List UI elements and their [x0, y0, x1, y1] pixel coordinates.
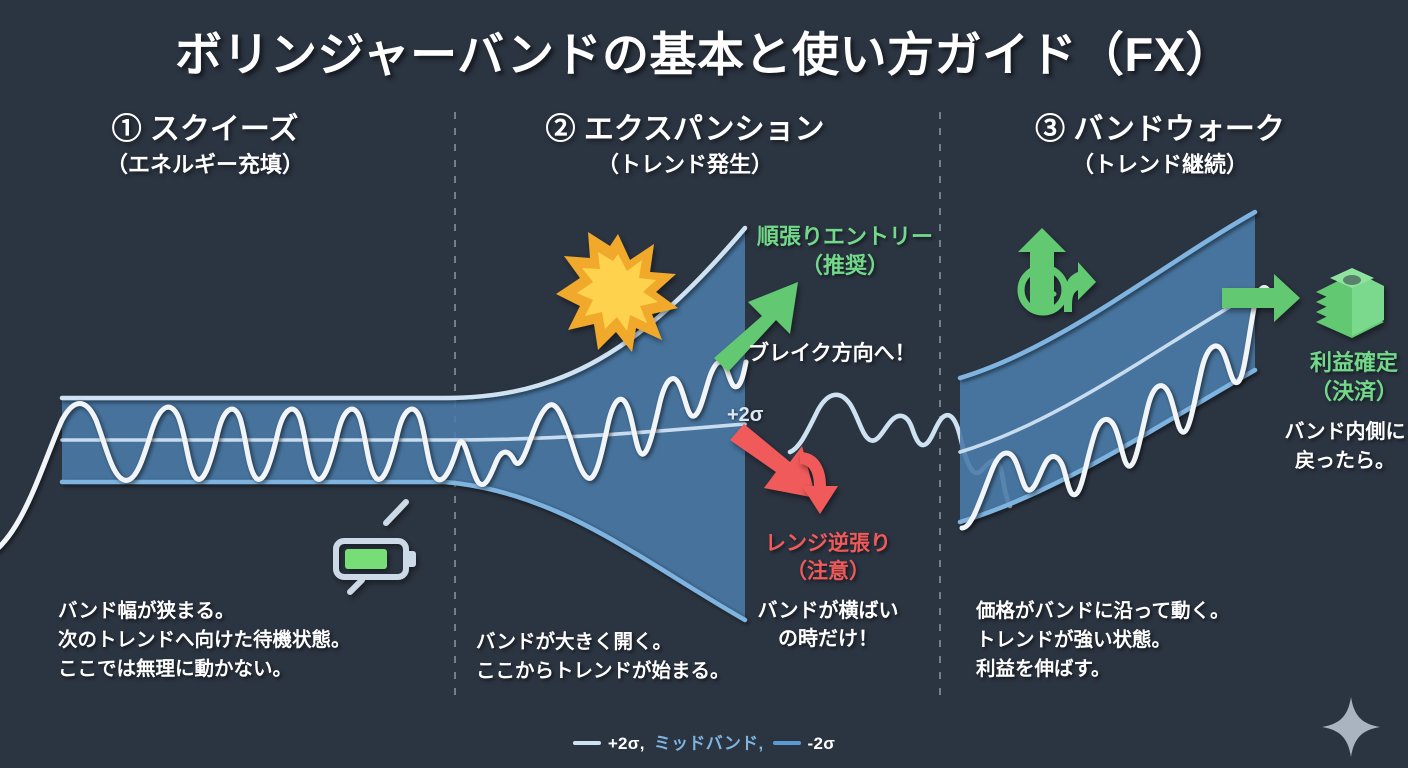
section-heading-bandwalk-sub: （トレンド継続）	[960, 151, 1360, 180]
section-heading-expansion-sub: （トレンド発生）	[470, 151, 900, 180]
annotation-counter-trend: レンジ逆張り （注意）	[728, 530, 928, 587]
section-heading-squeeze-main: ① スクイーズ	[40, 112, 370, 147]
legend-swatch-lower-icon	[773, 741, 801, 745]
money-stack-icon	[1316, 268, 1384, 338]
annotation-break-direction: ブレイク方向へ！	[748, 337, 916, 367]
annotation-counter-condition: バンドが横ばい の時だけ！	[728, 597, 928, 654]
annotation-take-profit-note-line1: バンド内側に	[1250, 418, 1408, 447]
section-heading-squeeze: ① スクイーズ （エネルギー充填）	[40, 112, 370, 180]
annotation-counter-condition-line1: バンドが横ばい	[728, 597, 928, 625]
page-title: ボリンジャーバンドの基本と使い方ガイド（FX）	[0, 16, 1408, 85]
legend-swatch-upper-icon	[573, 741, 601, 745]
section-heading-bandwalk: ③ バンドウォーク （トレンド継続）	[960, 112, 1360, 180]
annotation-take-profit-line2: （決済）	[1268, 377, 1408, 406]
section-heading-expansion: ② エクスパンション （トレンド発生）	[470, 112, 900, 180]
caption-expansion: バンドが大きく開く。 ここからトレンドが始まる。	[476, 628, 730, 686]
annotation-counter-line2: （注意）	[728, 558, 928, 586]
legend-label-lower: -2σ	[808, 734, 836, 753]
sigma-plus2-label: +2σ	[727, 404, 763, 427]
battery-charging-icon	[336, 502, 416, 592]
chart-legend: +2σ, ミッドバンド, -2σ	[0, 729, 1408, 754]
section-heading-bandwalk-main: ③ バンドウォーク	[960, 112, 1360, 147]
annotation-take-profit-line1: 利益確定	[1268, 348, 1408, 377]
section-heading-expansion-main: ② エクスパンション	[470, 112, 900, 147]
band-fill-bandwalk	[960, 212, 1255, 522]
annotation-counter-line1: レンジ逆張り	[728, 530, 928, 558]
annotation-counter-condition-line2: の時だけ！	[728, 625, 928, 653]
legend-separator-1: ,	[640, 734, 645, 753]
infographic-canvas: ボリンジャーバンドの基本と使い方ガイド（FX） ① スクイーズ （エネルギー充填…	[0, 0, 1408, 768]
legend-label-mid: ミッドバンド	[654, 734, 759, 753]
annotation-take-profit: 利益確定 （決済）	[1268, 348, 1408, 406]
caption-squeeze: バンド幅が狭まる。 次のトレンドへ向けた待機状態。 ここでは無理に動かない。	[58, 597, 351, 684]
legend-label-upper: +2σ	[608, 734, 640, 753]
legend-separator-2: ,	[758, 734, 763, 753]
section-heading-squeeze-sub: （エネルギー充填）	[40, 151, 370, 180]
annotation-entry-line1: 順張りエントリー	[740, 222, 950, 251]
annotation-entry-recommended: 順張りエントリー （推奨）	[740, 222, 950, 280]
annotation-take-profit-note-line2: 戻ったら。	[1250, 447, 1408, 476]
legend-item-lower: -2σ	[773, 734, 836, 754]
legend-item-upper: +2σ,	[573, 734, 645, 754]
caption-bandwalk: 価格がバンドに沿って動く。 トレンドが強い状態。 利益を伸ばす。	[976, 597, 1230, 684]
annotation-take-profit-note: バンド内側に 戻ったら。	[1250, 418, 1408, 476]
legend-item-mid: ミッドバンド,	[654, 729, 764, 754]
annotation-entry-line2: （推奨）	[740, 251, 950, 280]
band-bandwalk	[960, 212, 1255, 522]
trending-up-clock-icon	[1018, 228, 1096, 312]
